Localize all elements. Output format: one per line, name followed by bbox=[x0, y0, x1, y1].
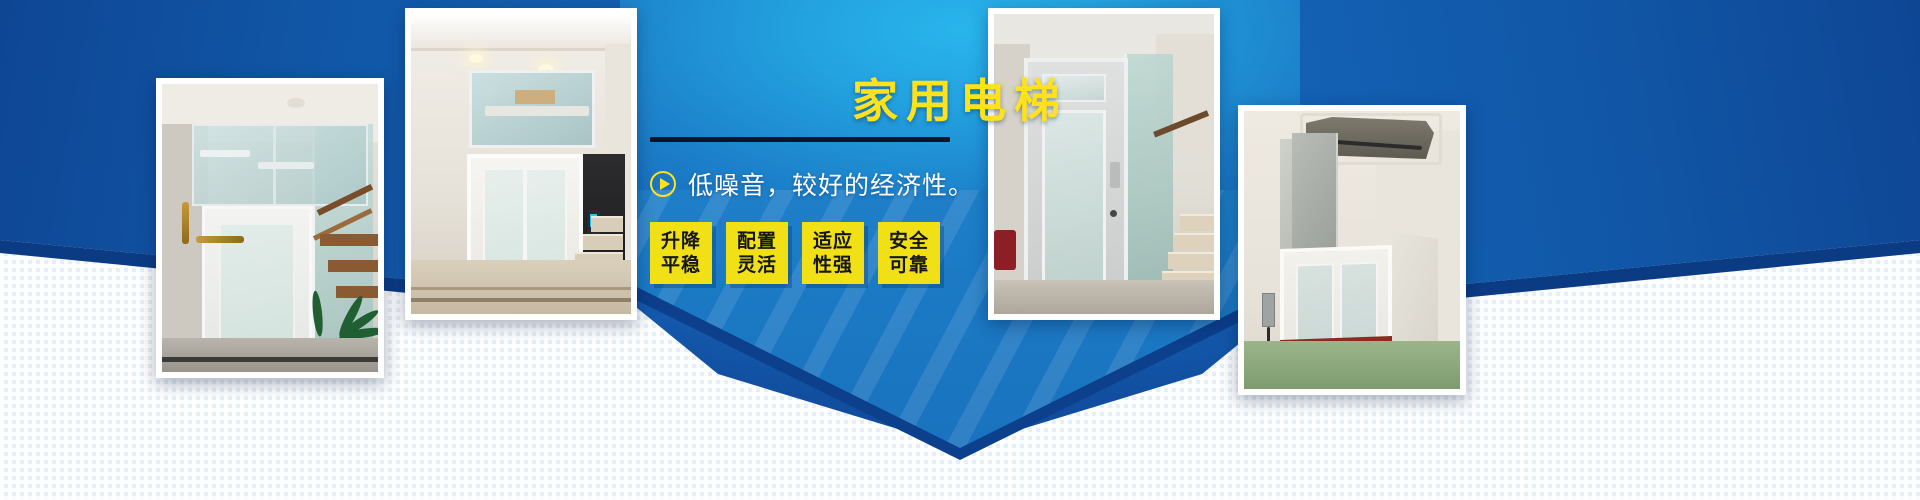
badge-line-1: 配置 bbox=[737, 229, 777, 253]
product-photo-1[interactable] bbox=[156, 78, 384, 378]
banner-content: 家用电梯 低噪音，较好的经济性。 升降 平稳 配置 灵活 适应 性强 安全 bbox=[650, 0, 1270, 500]
badge-line-2: 灵活 bbox=[737, 253, 777, 277]
product-photo-2[interactable] bbox=[405, 8, 637, 320]
badge-line-2: 性强 bbox=[813, 253, 853, 277]
feature-badge[interactable]: 安全 可靠 bbox=[878, 222, 940, 284]
feature-badge-list: 升降 平稳 配置 灵活 适应 性强 安全 可靠 bbox=[650, 222, 990, 292]
badge-line-2: 可靠 bbox=[889, 253, 929, 277]
feature-badge[interactable]: 升降 平稳 bbox=[650, 222, 712, 284]
title-divider-rule bbox=[650, 137, 950, 142]
banner-title: 家用电梯 bbox=[710, 78, 1210, 124]
badge-line-2: 平稳 bbox=[661, 253, 701, 277]
feature-badge[interactable]: 适应 性强 bbox=[802, 222, 864, 284]
circle-play-arrow-icon bbox=[650, 171, 676, 197]
tagline-text: 低噪音，较好的经济性。 bbox=[688, 166, 974, 202]
badge-line-1: 升降 bbox=[661, 229, 701, 253]
feature-badge[interactable]: 配置 灵活 bbox=[726, 222, 788, 284]
product-photo-4[interactable] bbox=[1238, 105, 1466, 395]
badge-line-1: 适应 bbox=[813, 229, 853, 253]
home-elevator-banner: 家用电梯 低噪音，较好的经济性。 升降 平稳 配置 灵活 适应 性强 安全 bbox=[0, 0, 1920, 500]
banner-tagline: 低噪音，较好的经济性。 bbox=[650, 162, 1070, 206]
badge-line-1: 安全 bbox=[889, 229, 929, 253]
